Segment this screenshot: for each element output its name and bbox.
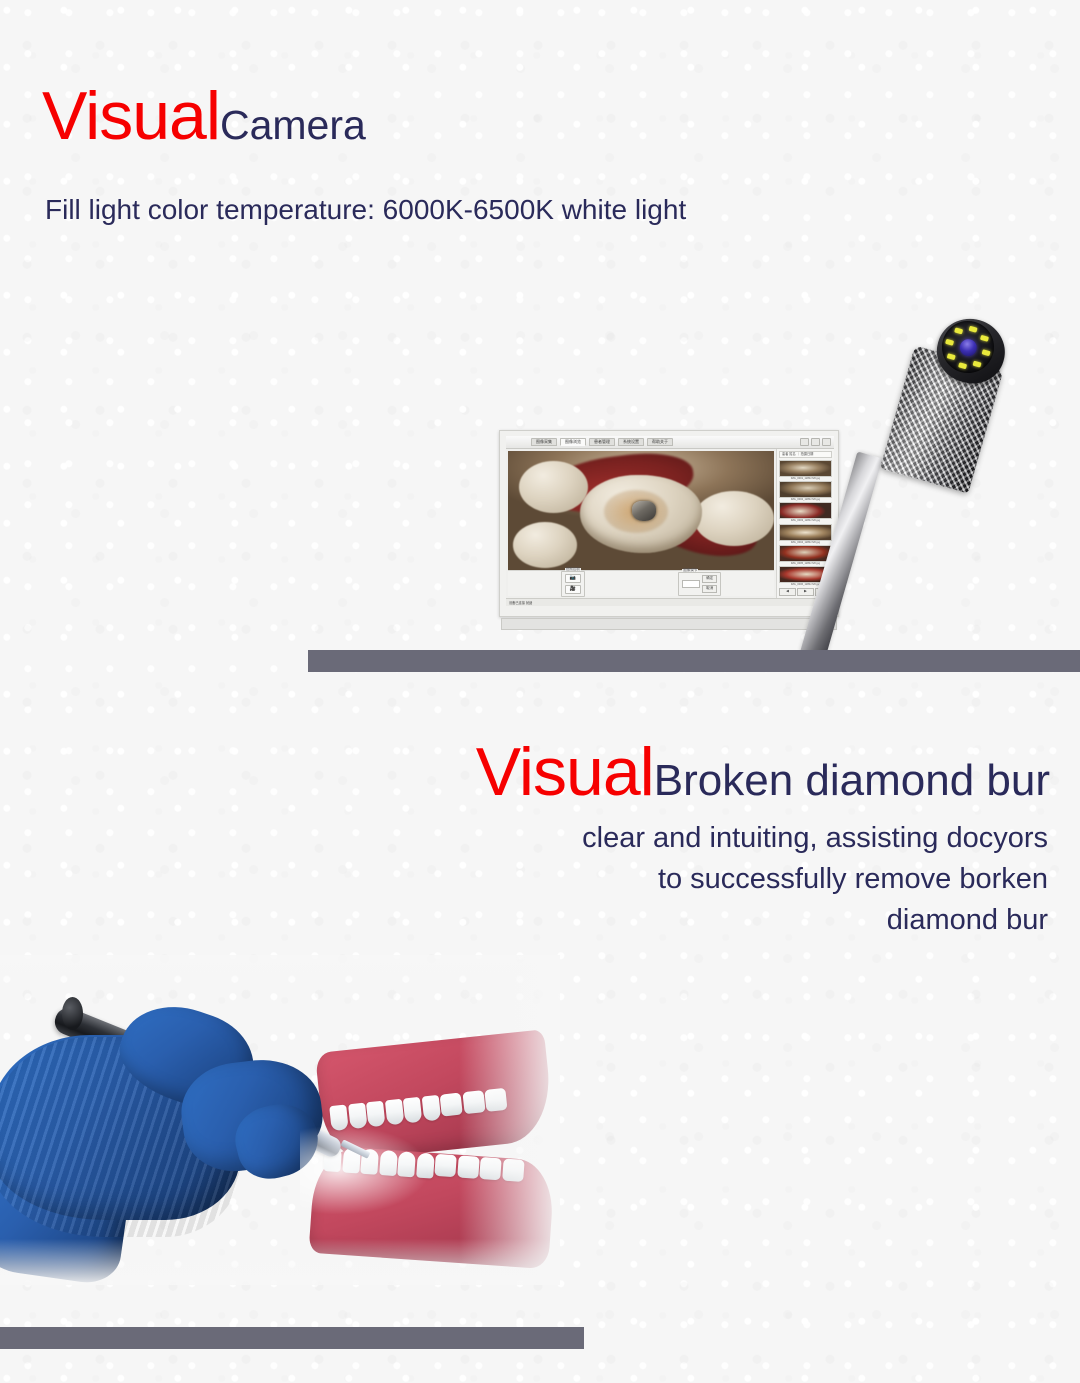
adjacent-tooth-right	[694, 491, 774, 546]
minimize-icon[interactable]	[800, 438, 809, 446]
thumbnail-image[interactable]	[779, 502, 832, 519]
adjust-group-label: 图像调节	[682, 569, 698, 573]
camera-subtitle: Fill light color temperature: 6000K-6500…	[45, 196, 686, 224]
adjust-value-input[interactable]	[682, 580, 700, 588]
capture-control-group: 拍照控制 📷 🎥	[561, 571, 585, 597]
tab-patient-manage[interactable]: 患者管理	[589, 438, 615, 446]
heading-keyword-visual: Visual	[42, 78, 220, 154]
list-item[interactable]: IMG_0002_1280x720.jpg	[779, 481, 832, 501]
bur-body-line-1: clear and intuiting, assisting docyors	[408, 818, 1048, 859]
section-divider-top	[308, 650, 1080, 672]
led-icon	[972, 360, 982, 367]
tooth	[379, 1150, 398, 1176]
bur-body-line-3: diamond bur	[408, 900, 1048, 941]
led-icon	[981, 349, 991, 356]
viewer-toolbar: 拍照控制 📷 🎥 图像调节	[508, 570, 774, 596]
video-capture-icon[interactable]: 🎥	[565, 585, 581, 594]
led-icon	[980, 334, 990, 341]
thumbnail-caption: IMG_0001_1280x720.jpg	[779, 477, 832, 480]
close-icon[interactable]	[822, 438, 831, 446]
handpiece-end-cap	[62, 997, 83, 1030]
next-thumbnail-icon[interactable]: ▶	[797, 588, 814, 596]
product-marketing-page: VisualCamera Fill light color temperatur…	[0, 0, 1080, 1383]
section-divider-bottom	[0, 1327, 584, 1349]
thumbnail-caption: IMG_0003_1280x720.jpg	[779, 519, 832, 522]
monitor-bezel: 图像采集 图像浏览 患者管理 系统设置 帮助关于	[499, 430, 839, 617]
capture-group-label: 拍照控制	[565, 568, 581, 572]
led-icon	[958, 362, 968, 369]
led-icon	[945, 338, 955, 345]
tab-system-setup[interactable]: 系统设置	[618, 438, 644, 446]
photo-capture-icon[interactable]: 📷	[565, 574, 581, 583]
handpiece-demo-photo	[0, 955, 560, 1285]
tooth	[434, 1154, 456, 1177]
thumbnail-image[interactable]	[779, 545, 832, 562]
adjust-confirm-button[interactable]: 确定	[702, 575, 717, 583]
tooth	[479, 1157, 501, 1180]
heading-rest-camera: Camera	[220, 102, 366, 148]
thumbnail-image[interactable]	[779, 460, 832, 477]
heading-keyword-visual: Visual	[476, 734, 654, 810]
app-statusbar: 设备已连接 就绪	[506, 598, 834, 606]
app-tab-strip: 图像采集 图像浏览 患者管理 系统设置 帮助关于	[531, 438, 673, 446]
tooth	[348, 1103, 368, 1130]
dental-imaging-app: 图像采集 图像浏览 患者管理 系统设置 帮助关于	[506, 436, 834, 606]
bur-body-copy: clear and intuiting, assisting docyors t…	[408, 818, 1048, 942]
thumbnail-caption: IMG_0002_1280x720.jpg	[779, 498, 832, 501]
tooth	[440, 1093, 463, 1117]
camera-lens-icon	[957, 337, 978, 358]
led-icon	[954, 327, 964, 334]
tooth	[366, 1101, 386, 1128]
thumbnail-caption: IMG_0004_1280x720.jpg	[779, 541, 832, 544]
list-item[interactable]: IMG_0005_1280x720.jpg	[779, 545, 832, 565]
list-item[interactable]: IMG_0004_1280x720.jpg	[779, 524, 832, 544]
list-item[interactable]: IMG_0003_1280x720.jpg	[779, 502, 832, 522]
adjacent-tooth-upper-left	[519, 461, 588, 513]
tooth	[502, 1159, 524, 1182]
tooth	[484, 1088, 507, 1112]
list-item[interactable]: IMG_0001_1280x720.jpg	[779, 460, 832, 480]
tooth	[416, 1153, 435, 1179]
tooth	[397, 1151, 416, 1177]
bur-body-line-2: to successfully remove borken	[408, 859, 1048, 900]
thumbnail-image[interactable]	[779, 524, 832, 541]
broken-bur-fragment	[632, 501, 656, 521]
tab-help-about[interactable]: 帮助关于	[647, 438, 673, 446]
monitor-stand	[501, 618, 837, 630]
heading-rest-bur: Broken diamond bur	[654, 756, 1050, 805]
monitor-mockup: 图像采集 图像浏览 患者管理 系统设置 帮助关于	[499, 430, 839, 630]
tab-image-capture[interactable]: 图像采集	[531, 438, 557, 446]
monitor-screen: 图像采集 图像浏览 患者管理 系统设置 帮助关于	[506, 436, 834, 606]
tab-image-browse[interactable]: 图像浏览	[560, 438, 586, 446]
tooth	[403, 1097, 423, 1124]
adjacent-tooth-lower-left	[513, 522, 577, 567]
camera-lens-housing	[936, 315, 1000, 379]
tooth	[457, 1155, 479, 1178]
camera-section-heading: VisualCamera	[42, 82, 366, 150]
led-icon	[947, 353, 957, 360]
adjust-cancel-button[interactable]: 取消	[702, 585, 717, 593]
window-controls	[800, 438, 831, 446]
image-adjust-group: 图像调节 确定 取消	[678, 572, 721, 596]
sidebar-header: 患者 姓名 ｜ 拍摄日期	[779, 451, 832, 458]
tooth	[462, 1090, 485, 1114]
app-body: 拍照控制 📷 🎥 图像调节	[506, 449, 834, 598]
tooth	[384, 1099, 404, 1126]
app-main-pane: 拍照控制 📷 🎥 图像调节	[506, 449, 776, 598]
thumbnail-image[interactable]	[779, 481, 832, 498]
tooth	[421, 1095, 441, 1122]
intraoral-camera-probe	[845, 305, 1080, 660]
bur-section-heading: VisualBroken diamond bur	[0, 738, 1050, 806]
prev-thumbnail-icon[interactable]: ◀	[779, 588, 796, 596]
maximize-icon[interactable]	[811, 438, 820, 446]
app-titlebar: 图像采集 图像浏览 患者管理 系统设置 帮助关于	[506, 436, 834, 449]
led-icon	[968, 325, 978, 332]
intraoral-image-viewer[interactable]	[508, 451, 774, 570]
tooth	[329, 1105, 349, 1132]
